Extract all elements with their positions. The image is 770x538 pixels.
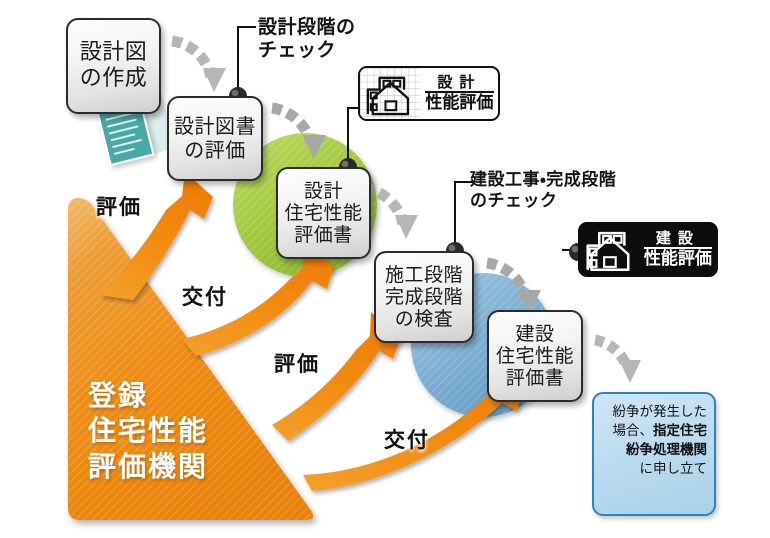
box-line: 完成段階 bbox=[385, 286, 463, 308]
process-box-design-report[interactable]: 設計 住宅性能 評価書 bbox=[276, 167, 371, 259]
process-box-design-drawing[interactable]: 設計図 の作成 bbox=[66, 18, 161, 114]
badge-bottom-text: 性能評価 bbox=[425, 91, 494, 113]
box-line: 建設 bbox=[496, 323, 574, 345]
dispute-line: 紛争処理機関 bbox=[601, 441, 707, 460]
box-line: の評価 bbox=[174, 139, 256, 162]
dispute-line: に申し立て bbox=[601, 460, 707, 479]
callout-line: 建設工事・完成段階 bbox=[470, 170, 616, 191]
dispute-line-bold: 指定住宅 bbox=[653, 423, 707, 439]
badge-bottom-text: 性能評価 bbox=[644, 247, 712, 269]
callout-line: 設計段階の bbox=[258, 16, 356, 39]
box-line: 評価書 bbox=[284, 224, 362, 246]
house-on-grid-icon bbox=[360, 68, 421, 119]
flow-label-evaluate-2: 評価 bbox=[274, 348, 320, 378]
process-box-construction-report[interactable]: 建設 住宅性能 評価書 bbox=[487, 310, 583, 402]
box-line: の作成 bbox=[80, 66, 148, 92]
process-box-construction-inspection[interactable]: 施工段階 完成段階 の検査 bbox=[374, 251, 474, 343]
callout-line: チェック bbox=[258, 39, 356, 62]
dispute-line: 紛争が発生した bbox=[601, 403, 707, 422]
house-solid-icon bbox=[580, 224, 640, 275]
badge-top-text: 建設 bbox=[644, 231, 712, 247]
callout-design-stage-check: 設計段階の チェック bbox=[258, 16, 356, 62]
box-line: の検査 bbox=[385, 308, 463, 330]
callout-construction-stage-check: 建設工事・完成段階 のチェック bbox=[470, 170, 616, 211]
box-line: 施工段階 bbox=[385, 264, 463, 286]
dispute-line: 場合、指定住宅 bbox=[601, 422, 707, 441]
curved-dashed-arrow-1 bbox=[172, 41, 226, 92]
callout-connector-1 bbox=[229, 27, 256, 105]
construction-performance-badge[interactable]: 建設 性能評価 bbox=[578, 222, 718, 277]
box-line: 住宅性能 bbox=[496, 345, 574, 367]
flow-label-deliver-2: 交付 bbox=[384, 424, 430, 454]
callout-connector-3 bbox=[446, 182, 473, 260]
dispute-resolution-box[interactable]: 紛争が発生した 場合、指定住宅 紛争処理機関 に申し立て bbox=[592, 392, 716, 516]
design-performance-badge[interactable]: 設計 性能評価 bbox=[358, 66, 500, 121]
box-line: 評価書 bbox=[496, 367, 574, 389]
callout-line: のチェック bbox=[470, 191, 616, 212]
box-line: 住宅性能 bbox=[284, 202, 362, 224]
curved-dashed-arrow-5 bbox=[595, 340, 641, 383]
box-line: 設計 bbox=[284, 180, 362, 202]
badge-top-text: 設計 bbox=[425, 75, 494, 91]
flow-label-deliver-1: 交付 bbox=[182, 281, 228, 311]
process-box-design-review[interactable]: 設計図書 の評価 bbox=[167, 96, 263, 181]
agency-line: 登録 bbox=[88, 378, 208, 413]
diagram-canvas: 設計図 の作成 設計図書 の評価 設計 住宅性能 評価書 施工段階 完成段階 の… bbox=[0, 0, 770, 538]
box-line: 設計図書 bbox=[174, 115, 256, 138]
flow-label-evaluate-1: 評価 bbox=[96, 191, 142, 221]
box-line: 設計図 bbox=[80, 40, 148, 66]
agency-label-reflection: 評価機関 bbox=[88, 421, 208, 461]
